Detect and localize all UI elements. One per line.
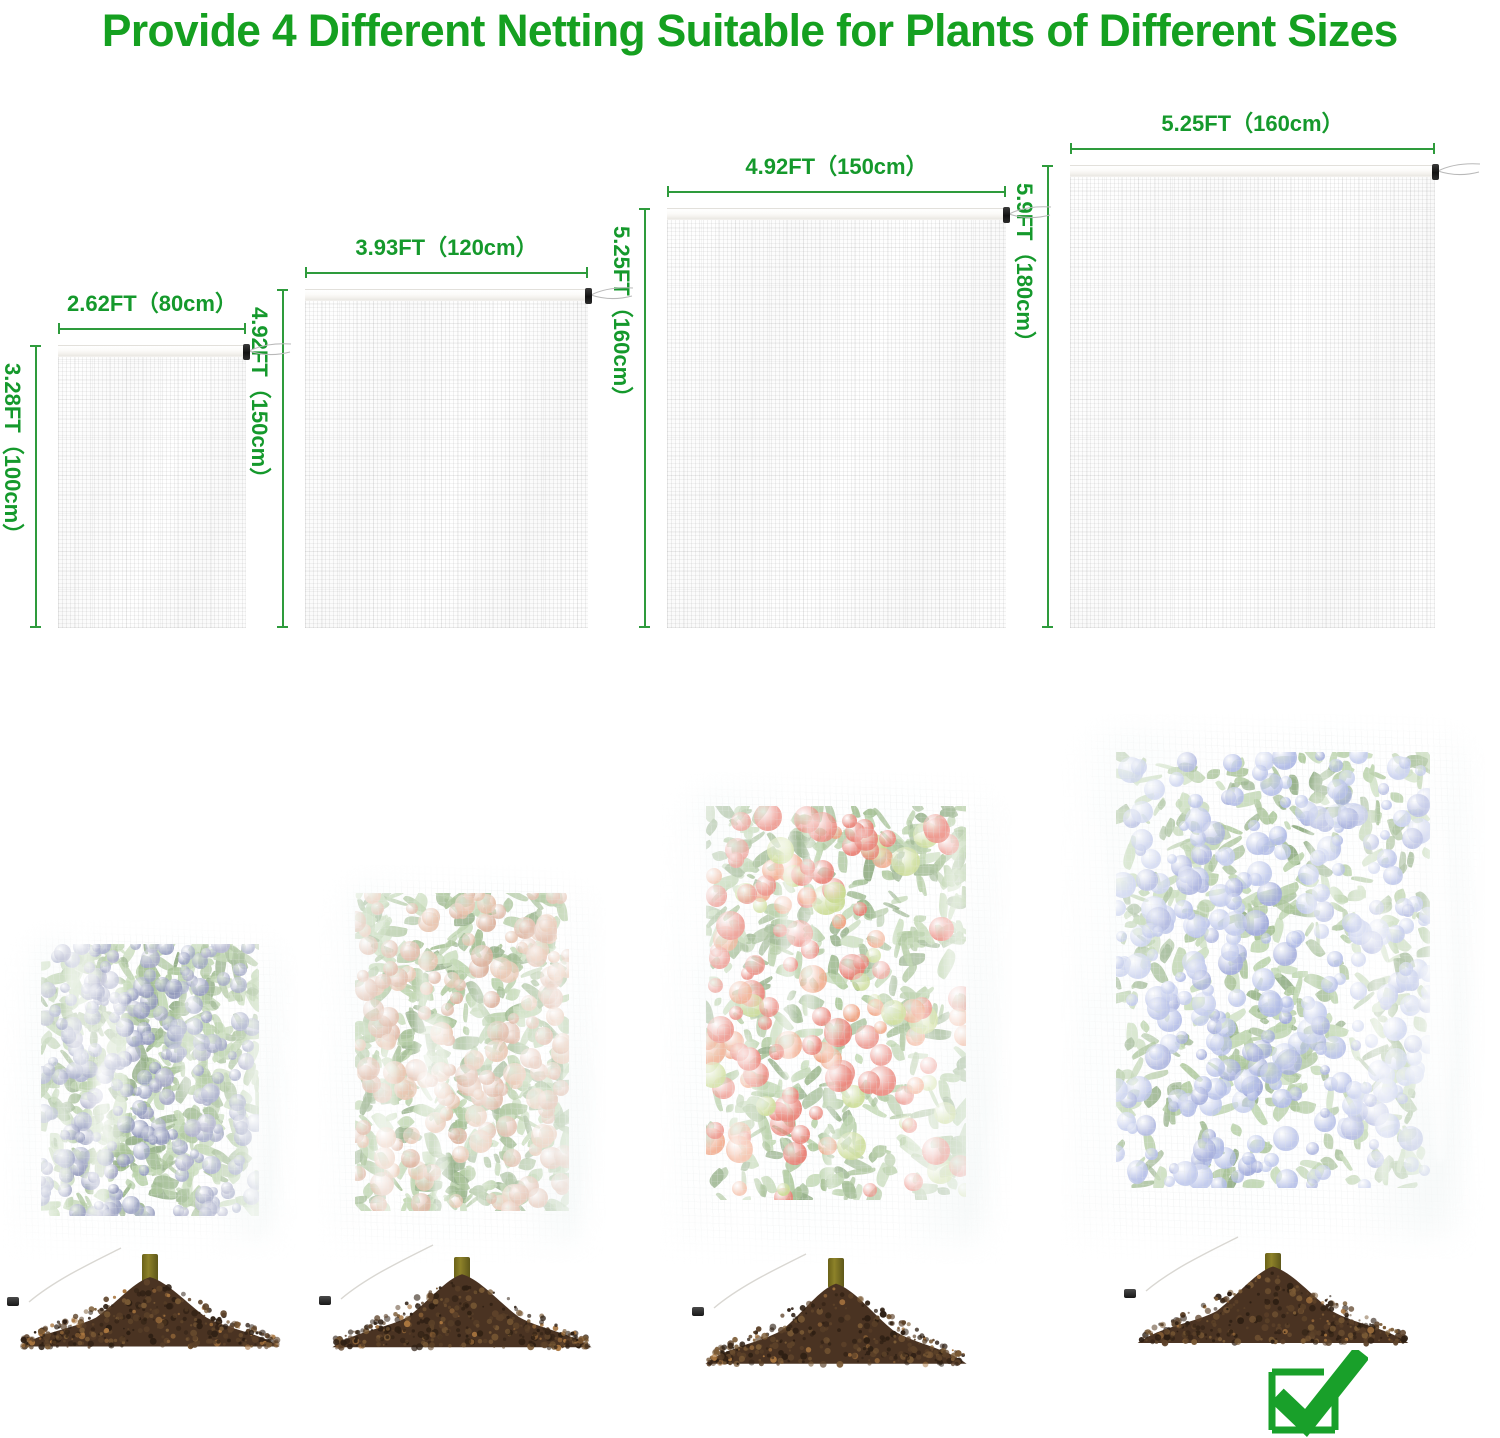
fruit bbox=[400, 941, 421, 962]
fruit bbox=[452, 1146, 469, 1163]
leaf bbox=[1229, 1123, 1243, 1137]
plant-foliage-4 bbox=[1116, 752, 1430, 1188]
fruit bbox=[448, 1128, 460, 1140]
flower-cluster bbox=[1320, 1108, 1330, 1118]
flower-cluster bbox=[1167, 854, 1177, 864]
fruit bbox=[61, 1029, 75, 1043]
fruit bbox=[553, 1033, 569, 1052]
fruit bbox=[75, 1132, 86, 1143]
flower-cluster bbox=[1274, 844, 1290, 860]
flower-cluster bbox=[1153, 926, 1163, 936]
cover-wrinkle bbox=[682, 826, 707, 969]
fruit bbox=[949, 1008, 966, 1026]
fruit bbox=[201, 948, 211, 958]
flower-cluster bbox=[1311, 1016, 1329, 1034]
fruit bbox=[922, 1137, 950, 1165]
base-drawstring-3 bbox=[694, 1252, 814, 1322]
fruit bbox=[84, 1009, 100, 1025]
cover-wrinkle bbox=[1427, 827, 1452, 1164]
fruit bbox=[767, 837, 794, 864]
flower-cluster bbox=[1387, 925, 1405, 943]
fruit bbox=[843, 1004, 861, 1022]
fruit bbox=[491, 904, 506, 919]
fruit bbox=[756, 875, 776, 895]
fruit bbox=[144, 969, 156, 981]
flower-cluster bbox=[1243, 910, 1269, 936]
fruit bbox=[122, 1196, 139, 1213]
flower-cluster bbox=[1314, 901, 1335, 922]
flower-cluster bbox=[1341, 1116, 1364, 1139]
flower-cluster bbox=[1175, 972, 1185, 982]
base-drawstring-2 bbox=[321, 1243, 441, 1313]
fruit bbox=[376, 1127, 397, 1148]
leaf bbox=[1215, 779, 1225, 791]
fruit bbox=[167, 1025, 183, 1041]
fruit bbox=[232, 1203, 242, 1213]
fruit bbox=[731, 812, 751, 832]
flower-cluster bbox=[1295, 801, 1318, 824]
flower-cluster bbox=[1177, 991, 1191, 1005]
plant-examples-section bbox=[0, 672, 1500, 1437]
fruit bbox=[201, 1084, 220, 1103]
flower-cluster bbox=[1260, 1161, 1271, 1172]
flower-cluster bbox=[1149, 1046, 1163, 1060]
fruit bbox=[870, 1044, 892, 1066]
flower-cluster bbox=[1315, 1165, 1330, 1180]
flower-cluster bbox=[1125, 953, 1151, 979]
fruit bbox=[107, 950, 119, 962]
fruit bbox=[527, 893, 538, 900]
fruit bbox=[185, 996, 203, 1014]
fruit bbox=[212, 1072, 224, 1084]
fruit bbox=[824, 1018, 853, 1047]
covered-plant-1 bbox=[3, 920, 298, 1260]
fruit bbox=[754, 806, 782, 831]
fruit bbox=[801, 940, 819, 958]
fruit bbox=[441, 1003, 454, 1016]
base-cord-lock-3 bbox=[692, 1307, 704, 1316]
fruit bbox=[554, 1145, 568, 1165]
fruit bbox=[56, 1018, 68, 1030]
fruit bbox=[904, 1173, 922, 1191]
fruit bbox=[45, 1107, 58, 1120]
flower-cluster bbox=[1126, 994, 1139, 1007]
base-cord-lock-4 bbox=[1124, 1289, 1136, 1298]
flower-cluster bbox=[1286, 931, 1303, 948]
leaf bbox=[1412, 1015, 1428, 1031]
flower-cluster bbox=[1281, 996, 1293, 1008]
flower-cluster bbox=[1216, 1018, 1235, 1037]
fruit bbox=[874, 1021, 887, 1034]
flower-cluster bbox=[1420, 965, 1430, 982]
flower-cluster bbox=[1225, 787, 1244, 806]
fruit bbox=[179, 1207, 189, 1216]
leaf bbox=[716, 1191, 728, 1200]
fruit bbox=[496, 1083, 509, 1096]
fruit bbox=[798, 887, 815, 904]
fruit bbox=[450, 992, 462, 1004]
flower-cluster bbox=[1192, 970, 1212, 990]
flower-cluster bbox=[1332, 863, 1345, 876]
flower-cluster bbox=[1280, 776, 1293, 789]
flower-cluster bbox=[1252, 968, 1275, 991]
flower-cluster bbox=[1136, 1115, 1157, 1136]
flower-cluster bbox=[1169, 772, 1185, 788]
flower-cluster bbox=[1352, 1020, 1364, 1032]
fruit bbox=[41, 982, 56, 998]
fruit bbox=[374, 1147, 396, 1169]
leaf bbox=[847, 888, 867, 901]
fruit bbox=[380, 1034, 396, 1050]
flower-cluster bbox=[1312, 884, 1330, 902]
fruit bbox=[807, 812, 837, 842]
leaf bbox=[1241, 779, 1255, 791]
fruit bbox=[423, 1164, 440, 1181]
fruit bbox=[891, 847, 920, 876]
fruit bbox=[422, 908, 439, 925]
fruit bbox=[56, 1149, 75, 1168]
fruit bbox=[149, 1079, 162, 1092]
plant-foliage-2 bbox=[355, 893, 568, 1211]
fruit bbox=[818, 1137, 837, 1156]
leaf bbox=[1351, 874, 1374, 884]
fruit bbox=[73, 944, 89, 955]
flower-cluster bbox=[1273, 1126, 1299, 1152]
fruit bbox=[430, 1022, 453, 1045]
fruit bbox=[954, 1025, 966, 1046]
leaf bbox=[1297, 752, 1307, 763]
fruit bbox=[117, 1116, 135, 1134]
flower-cluster bbox=[1306, 1142, 1319, 1155]
fruit bbox=[193, 1065, 204, 1076]
fruit bbox=[108, 1184, 118, 1194]
flower-cluster bbox=[1164, 1176, 1175, 1187]
leaf bbox=[1420, 846, 1430, 859]
fruit bbox=[158, 944, 174, 955]
leaf bbox=[741, 1196, 751, 1200]
flower-cluster bbox=[1381, 800, 1391, 810]
page-title-text: Provide 4 Different Netting Suitable for… bbox=[102, 6, 1398, 56]
fruit bbox=[558, 959, 569, 978]
fruit bbox=[538, 1090, 558, 1110]
fruit bbox=[706, 885, 727, 906]
fruit bbox=[49, 1005, 60, 1016]
leaf bbox=[1402, 1110, 1414, 1125]
flower-cluster bbox=[1415, 765, 1425, 775]
fruit bbox=[58, 1183, 72, 1197]
fruit bbox=[401, 1149, 420, 1168]
fruit bbox=[440, 1107, 454, 1121]
fruit bbox=[732, 1181, 748, 1197]
fruit bbox=[535, 1027, 553, 1045]
flower-cluster bbox=[1385, 1048, 1407, 1070]
flower-cluster bbox=[1258, 992, 1283, 1017]
base-cord-lock-1 bbox=[7, 1297, 19, 1306]
flower-cluster bbox=[1211, 1177, 1227, 1188]
flower-cluster bbox=[1373, 1078, 1399, 1104]
fruit bbox=[902, 1118, 917, 1133]
fruit bbox=[853, 954, 869, 970]
flower-cluster bbox=[1321, 976, 1338, 993]
leaf bbox=[484, 1156, 492, 1168]
fruit bbox=[854, 827, 878, 851]
flower-cluster bbox=[1320, 1065, 1330, 1075]
flower-cluster bbox=[1332, 835, 1343, 846]
leaf bbox=[877, 915, 885, 927]
covered-plant-3 bbox=[660, 772, 1012, 1264]
leaf bbox=[706, 839, 713, 851]
fruit bbox=[726, 1136, 753, 1163]
fruit bbox=[929, 917, 953, 941]
flower-cluster bbox=[1363, 834, 1379, 850]
fruit bbox=[378, 1007, 399, 1028]
fruit bbox=[503, 1149, 521, 1167]
leaf bbox=[1116, 976, 1121, 990]
fruit bbox=[43, 1063, 56, 1076]
leaf bbox=[938, 1187, 951, 1196]
flower-cluster bbox=[1168, 1101, 1178, 1111]
leaf bbox=[1391, 793, 1404, 803]
fruit bbox=[802, 1035, 822, 1055]
fruit bbox=[159, 1089, 174, 1104]
fruit bbox=[92, 1132, 102, 1142]
fruit bbox=[243, 1188, 259, 1205]
leaf bbox=[1207, 769, 1220, 779]
fruit bbox=[753, 898, 768, 913]
drawstring-cord-3 bbox=[1009, 205, 1053, 227]
plant-foliage-3 bbox=[706, 806, 966, 1200]
fruit bbox=[508, 1013, 519, 1024]
fruit bbox=[370, 1172, 394, 1196]
fruit bbox=[454, 979, 466, 991]
fruit bbox=[229, 1069, 241, 1081]
flower-cluster bbox=[1116, 1145, 1125, 1162]
flower-cluster bbox=[1383, 866, 1403, 886]
leaf bbox=[802, 1001, 807, 1016]
flower-cluster bbox=[1131, 829, 1153, 851]
fruit bbox=[485, 1040, 508, 1063]
fruit bbox=[178, 952, 190, 964]
flower-cluster bbox=[1161, 981, 1174, 994]
leaf bbox=[1416, 946, 1430, 958]
fruit bbox=[729, 981, 752, 1004]
flower-cluster bbox=[1145, 1148, 1157, 1160]
leaf bbox=[462, 1026, 471, 1036]
fruit bbox=[359, 936, 377, 954]
flower-cluster bbox=[1131, 759, 1147, 775]
fruit bbox=[529, 946, 544, 961]
flower-cluster bbox=[1192, 992, 1216, 1016]
flower-cluster bbox=[1350, 982, 1368, 1000]
flower-cluster bbox=[1405, 1065, 1424, 1084]
cover-wrinkle bbox=[1081, 819, 1108, 997]
fruit bbox=[758, 1016, 772, 1030]
leaf bbox=[44, 1034, 61, 1052]
width-dimension-line-4 bbox=[1070, 143, 1435, 154]
fruit bbox=[117, 1051, 133, 1067]
fruit bbox=[238, 1053, 254, 1069]
fruit bbox=[370, 1196, 387, 1212]
fruit bbox=[228, 1051, 237, 1060]
cover-wrinkle bbox=[337, 894, 348, 1070]
fruit bbox=[546, 1007, 565, 1026]
fruit bbox=[117, 1154, 130, 1167]
fruit bbox=[471, 945, 492, 966]
leaf bbox=[1323, 1133, 1335, 1149]
fruit bbox=[774, 896, 792, 914]
fruit bbox=[551, 1173, 569, 1192]
fruit bbox=[233, 963, 246, 976]
fruit bbox=[371, 902, 384, 915]
flower-cluster bbox=[1225, 893, 1242, 910]
cord-lock-toggle-1 bbox=[243, 344, 250, 360]
cord-lock-toggle-4 bbox=[1432, 164, 1439, 180]
fruit bbox=[745, 955, 766, 976]
leaf bbox=[1242, 1177, 1264, 1188]
fruit bbox=[443, 1064, 456, 1077]
flower-cluster bbox=[1249, 873, 1262, 886]
flower-cluster bbox=[1361, 931, 1384, 954]
fruit bbox=[759, 997, 779, 1017]
fruit bbox=[88, 1043, 102, 1057]
flower-cluster bbox=[1269, 826, 1288, 845]
cord-lock-toggle-2 bbox=[585, 288, 592, 304]
fruit bbox=[113, 1106, 123, 1116]
flower-cluster bbox=[1136, 869, 1158, 891]
flower-cluster bbox=[1276, 1169, 1299, 1188]
fruit bbox=[528, 1188, 547, 1207]
flower-cluster bbox=[1260, 1062, 1282, 1084]
fruit bbox=[879, 830, 896, 847]
fruit bbox=[403, 1127, 420, 1144]
flower-cluster bbox=[1314, 924, 1329, 939]
fruit bbox=[190, 1149, 200, 1159]
flower-cluster bbox=[1375, 1113, 1400, 1138]
flower-cluster bbox=[1398, 1126, 1423, 1151]
flower-cluster bbox=[1358, 1179, 1371, 1188]
flower-cluster bbox=[1176, 869, 1202, 895]
flower-cluster bbox=[1131, 801, 1152, 822]
flower-cluster bbox=[1231, 1170, 1244, 1183]
fruit bbox=[54, 944, 72, 962]
fruit bbox=[526, 1016, 539, 1029]
fruit bbox=[708, 978, 723, 993]
flower-cluster bbox=[1315, 752, 1326, 761]
flower-cluster bbox=[1242, 1152, 1255, 1165]
fruit bbox=[355, 1166, 365, 1181]
fruit bbox=[791, 1125, 810, 1144]
flower-cluster bbox=[1116, 931, 1127, 942]
size-chart-section: 2.62FT（80cm）3.28FT（100cm）3.93FT（120cm）4.… bbox=[0, 62, 1500, 672]
flower-cluster bbox=[1402, 828, 1423, 849]
leaf bbox=[41, 961, 51, 971]
covered-plant-2 bbox=[318, 865, 606, 1263]
fruit bbox=[148, 1135, 158, 1145]
fruit bbox=[541, 987, 564, 1010]
fruit bbox=[197, 1114, 216, 1133]
fruit bbox=[60, 983, 70, 993]
flower-cluster bbox=[1337, 808, 1358, 829]
leaf bbox=[892, 907, 910, 919]
flower-cluster bbox=[1206, 1058, 1225, 1077]
fruit bbox=[549, 1068, 561, 1080]
fruit bbox=[406, 903, 417, 914]
flower-cluster bbox=[1367, 1151, 1384, 1168]
covered-plant-4 bbox=[1061, 714, 1485, 1259]
fruit bbox=[166, 979, 181, 994]
leaf bbox=[1260, 1016, 1270, 1026]
cover-wrinkle bbox=[1088, 1019, 1116, 1258]
flower-cluster bbox=[1365, 1034, 1379, 1048]
flower-cluster bbox=[1228, 989, 1247, 1008]
flower-cluster bbox=[1404, 1157, 1419, 1172]
base-drawstring-4 bbox=[1126, 1235, 1246, 1305]
drawstring-hem-4 bbox=[1070, 165, 1435, 177]
fruit bbox=[103, 1209, 114, 1216]
flower-cluster bbox=[1306, 1179, 1317, 1188]
cover-wrinkle bbox=[682, 879, 693, 1089]
fruit bbox=[521, 995, 537, 1011]
fruit bbox=[104, 1164, 119, 1179]
leaf bbox=[787, 989, 797, 1002]
fruit bbox=[166, 1044, 185, 1063]
base-cord-lock-2 bbox=[319, 1296, 331, 1305]
flower-cluster bbox=[1419, 1165, 1430, 1176]
fruit bbox=[842, 814, 857, 829]
flower-cluster bbox=[1349, 752, 1368, 764]
flower-cluster bbox=[1351, 1040, 1362, 1051]
checked-box-icon bbox=[1258, 1350, 1368, 1438]
flower-cluster bbox=[1193, 1138, 1216, 1161]
leaf bbox=[1339, 1153, 1353, 1173]
flower-cluster bbox=[1404, 1035, 1422, 1053]
flower-cluster bbox=[1342, 913, 1362, 933]
flower-cluster bbox=[1360, 1082, 1372, 1094]
fruit bbox=[503, 1063, 526, 1086]
fruit bbox=[204, 1034, 222, 1052]
fruit bbox=[809, 1106, 823, 1120]
fruit bbox=[496, 1116, 517, 1137]
page-title: Provide 4 Different Netting Suitable for… bbox=[0, 0, 1500, 62]
flower-cluster bbox=[1204, 928, 1219, 943]
leaf bbox=[873, 806, 891, 830]
base-drawstring-1 bbox=[9, 1246, 129, 1316]
fruit bbox=[411, 1193, 431, 1211]
fruit bbox=[182, 969, 194, 981]
drawstring-cord-1 bbox=[249, 342, 293, 364]
flower-cluster bbox=[1247, 1135, 1265, 1153]
leaf bbox=[1139, 1019, 1153, 1032]
leaf bbox=[835, 997, 844, 1010]
flower-cluster bbox=[1173, 1161, 1198, 1186]
fruit bbox=[479, 1070, 495, 1086]
fruit bbox=[837, 1132, 865, 1160]
flower-cluster bbox=[1116, 872, 1135, 898]
leaf bbox=[1394, 1182, 1418, 1188]
fruit bbox=[519, 920, 533, 934]
fruit bbox=[69, 1204, 86, 1216]
fruit bbox=[357, 1135, 370, 1148]
fruit bbox=[73, 1049, 89, 1065]
flower-cluster bbox=[1369, 1139, 1380, 1150]
fruit bbox=[923, 814, 948, 839]
flower-cluster bbox=[1257, 882, 1282, 907]
flower-cluster bbox=[1127, 1160, 1148, 1181]
fruit bbox=[853, 902, 867, 916]
fruit bbox=[920, 1057, 937, 1074]
flower-cluster bbox=[1217, 847, 1236, 866]
flower-cluster bbox=[1246, 832, 1270, 856]
